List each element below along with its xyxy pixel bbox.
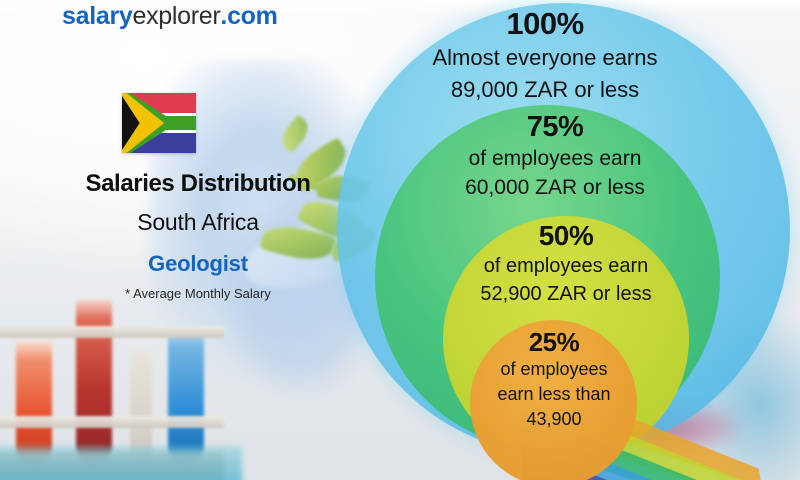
- tier-percent-100: 100%: [400, 8, 690, 39]
- tier-label-100: 100% Almost everyone earns 89,000 ZAR or…: [400, 8, 690, 102]
- salary-note: * Average Monthly Salary: [78, 286, 318, 301]
- tier-line1-50: of employees earn: [440, 255, 692, 278]
- south-africa-flag-icon: [122, 93, 196, 153]
- logo-part-salary: salary: [62, 2, 133, 30]
- tier-label-25: 25% of employees earn less than 43,900: [468, 329, 640, 430]
- site-logo[interactable]: salaryexplorer.com: [62, 2, 278, 31]
- logo-part-explorer: explorer: [133, 2, 221, 30]
- job-title: Geologist: [78, 251, 318, 277]
- tier-line2-50: 52,900 ZAR or less: [440, 283, 692, 306]
- tier-label-75: 75% of employees earn 60,000 ZAR or less: [420, 113, 690, 201]
- tier-percent-50: 50%: [440, 222, 692, 250]
- tier-label-50: 50% of employees earn 52,900 ZAR or less: [440, 222, 692, 306]
- tier-percent-75: 75%: [420, 113, 690, 142]
- tier-line2-25: earn less than: [468, 384, 640, 405]
- tier-percent-25: 25%: [468, 329, 640, 355]
- country-name: South Africa: [78, 209, 318, 236]
- salary-distribution-chart: 100% Almost everyone earns 89,000 ZAR or…: [0, 0, 800, 480]
- tier-line1-100: Almost everyone earns: [400, 45, 690, 71]
- tier-line2-75: 60,000 ZAR or less: [420, 176, 690, 200]
- page-title: Salaries Distribution: [78, 170, 318, 198]
- tier-line3-25: 43,900: [468, 409, 640, 430]
- tier-line2-100: 89,000 ZAR or less: [400, 77, 690, 103]
- tier-line1-75: of employees earn: [420, 147, 690, 171]
- tier-line1-25: of employees: [468, 359, 640, 380]
- logo-part-domain: .com: [220, 2, 277, 30]
